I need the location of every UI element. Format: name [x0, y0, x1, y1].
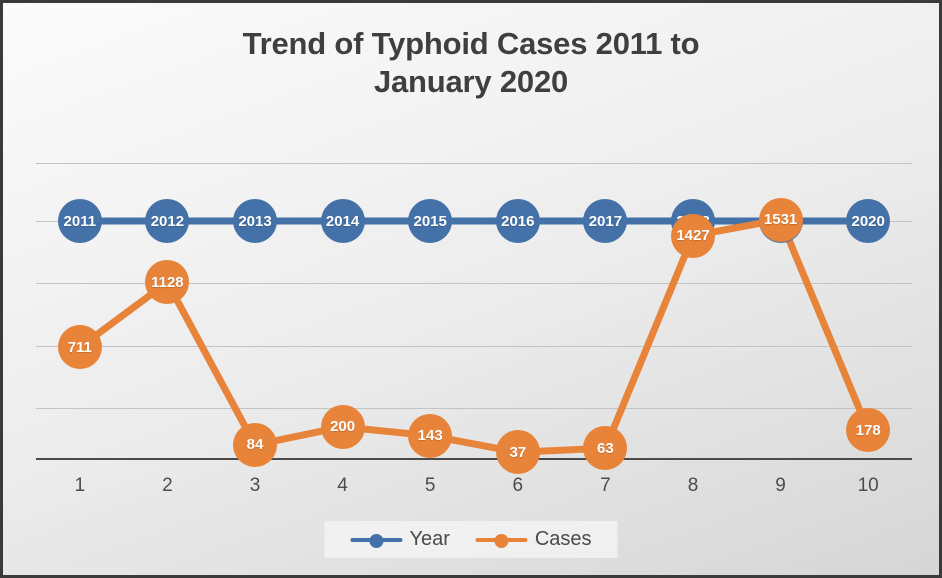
- cases-point-63[interactable]: 63: [583, 426, 627, 470]
- chart-legend: Year Cases: [324, 521, 617, 558]
- cases-point-84[interactable]: 84: [233, 423, 277, 467]
- year-point-2011[interactable]: 2011: [58, 199, 102, 243]
- year-point-2012[interactable]: 2012: [145, 199, 189, 243]
- cases-point-1128[interactable]: 1128: [145, 260, 189, 304]
- x-axis-labels: 12345678910: [36, 475, 912, 503]
- legend-swatch-year-icon: [350, 533, 402, 547]
- legend-item-year[interactable]: Year: [350, 528, 449, 551]
- year-point-2014[interactable]: 2014: [321, 199, 365, 243]
- cases-point-1531[interactable]: 1531: [759, 198, 803, 242]
- legend-swatch-cases-icon: [476, 533, 528, 547]
- x-tick-10: 10: [858, 475, 879, 497]
- x-tick-2: 2: [162, 475, 173, 497]
- cases-point-143[interactable]: 143: [408, 414, 452, 458]
- year-point-2015[interactable]: 2015: [408, 199, 452, 243]
- x-tick-6: 6: [513, 475, 524, 497]
- legend-item-cases[interactable]: Cases: [476, 528, 592, 551]
- chart-title: Trend of Typhoid Cases 2011 to January 2…: [3, 25, 939, 101]
- cases-point-37[interactable]: 37: [496, 430, 540, 474]
- cases-point-200[interactable]: 200: [321, 405, 365, 449]
- legend-label-year: Year: [409, 528, 449, 551]
- x-tick-1: 1: [75, 475, 86, 497]
- year-point-2020[interactable]: 2020: [846, 199, 890, 243]
- cases-point-178[interactable]: 178: [846, 408, 890, 452]
- cases-point-711[interactable]: 711: [58, 325, 102, 369]
- cases-series-line: [80, 220, 868, 453]
- x-tick-3: 3: [250, 475, 261, 497]
- series-lines: [36, 143, 912, 473]
- cases-point-1427[interactable]: 1427: [671, 214, 715, 258]
- x-tick-7: 7: [600, 475, 611, 497]
- legend-label-cases: Cases: [535, 528, 592, 551]
- year-point-2013[interactable]: 2013: [233, 199, 277, 243]
- chart-frame: Trend of Typhoid Cases 2011 to January 2…: [0, 0, 942, 578]
- year-point-2017[interactable]: 2017: [583, 199, 627, 243]
- year-point-2016[interactable]: 2016: [496, 199, 540, 243]
- x-tick-5: 5: [425, 475, 436, 497]
- x-tick-8: 8: [688, 475, 699, 497]
- x-tick-4: 4: [337, 475, 348, 497]
- x-tick-9: 9: [775, 475, 786, 497]
